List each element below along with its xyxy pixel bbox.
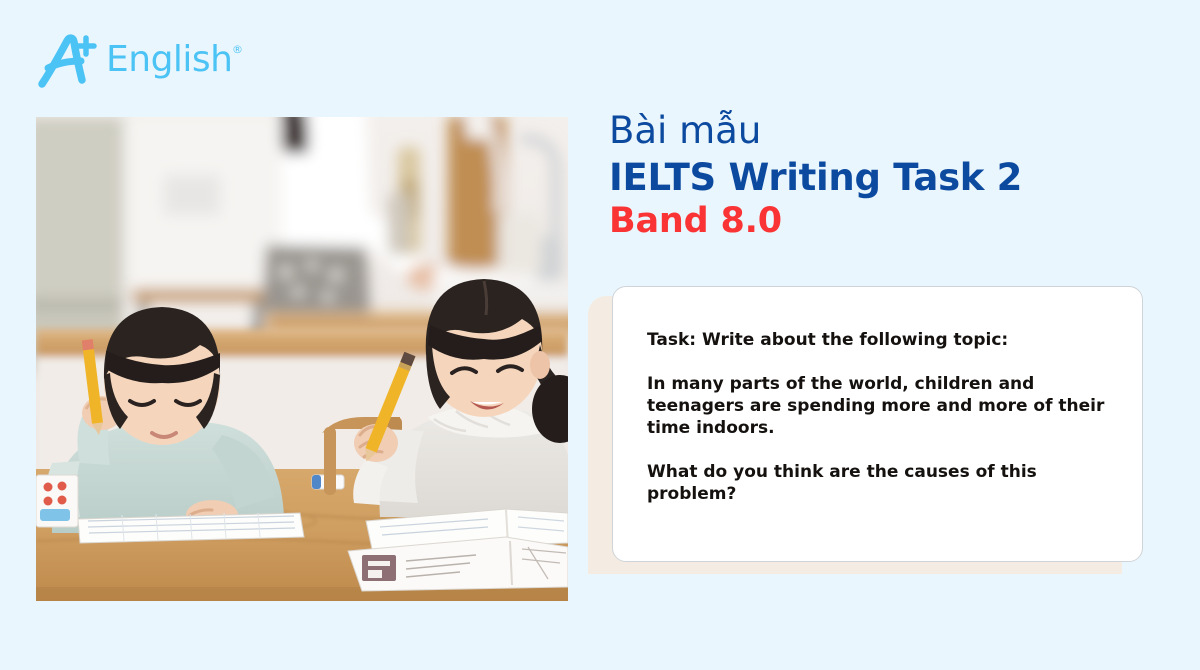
task-prompt-statement: In many parts of the world, children and… xyxy=(647,373,1106,439)
heading-block: Bài mẫu IELTS Writing Task 2 Band 8.0 xyxy=(609,112,1149,241)
a-plus-icon xyxy=(36,30,100,90)
brand-logo-wordmark: English® xyxy=(106,42,243,78)
hero-photo xyxy=(36,117,568,601)
task-prompt-question: What do you think are the causes of this… xyxy=(647,461,1106,505)
hero-photo-illustration xyxy=(36,117,568,601)
brand-logo-text: English xyxy=(106,39,233,80)
registered-trademark-icon: ® xyxy=(232,44,243,55)
heading-subtitle: Bài mẫu xyxy=(609,112,1149,151)
brand-logo: English® xyxy=(36,28,296,92)
band-score-label: Band 8.0 xyxy=(609,202,1149,241)
task-prompt-heading: Task: Write about the following topic: xyxy=(647,329,1106,351)
page-title: IELTS Writing Task 2 xyxy=(609,157,1149,198)
task-card: Task: Write about the following topic: I… xyxy=(612,286,1143,562)
